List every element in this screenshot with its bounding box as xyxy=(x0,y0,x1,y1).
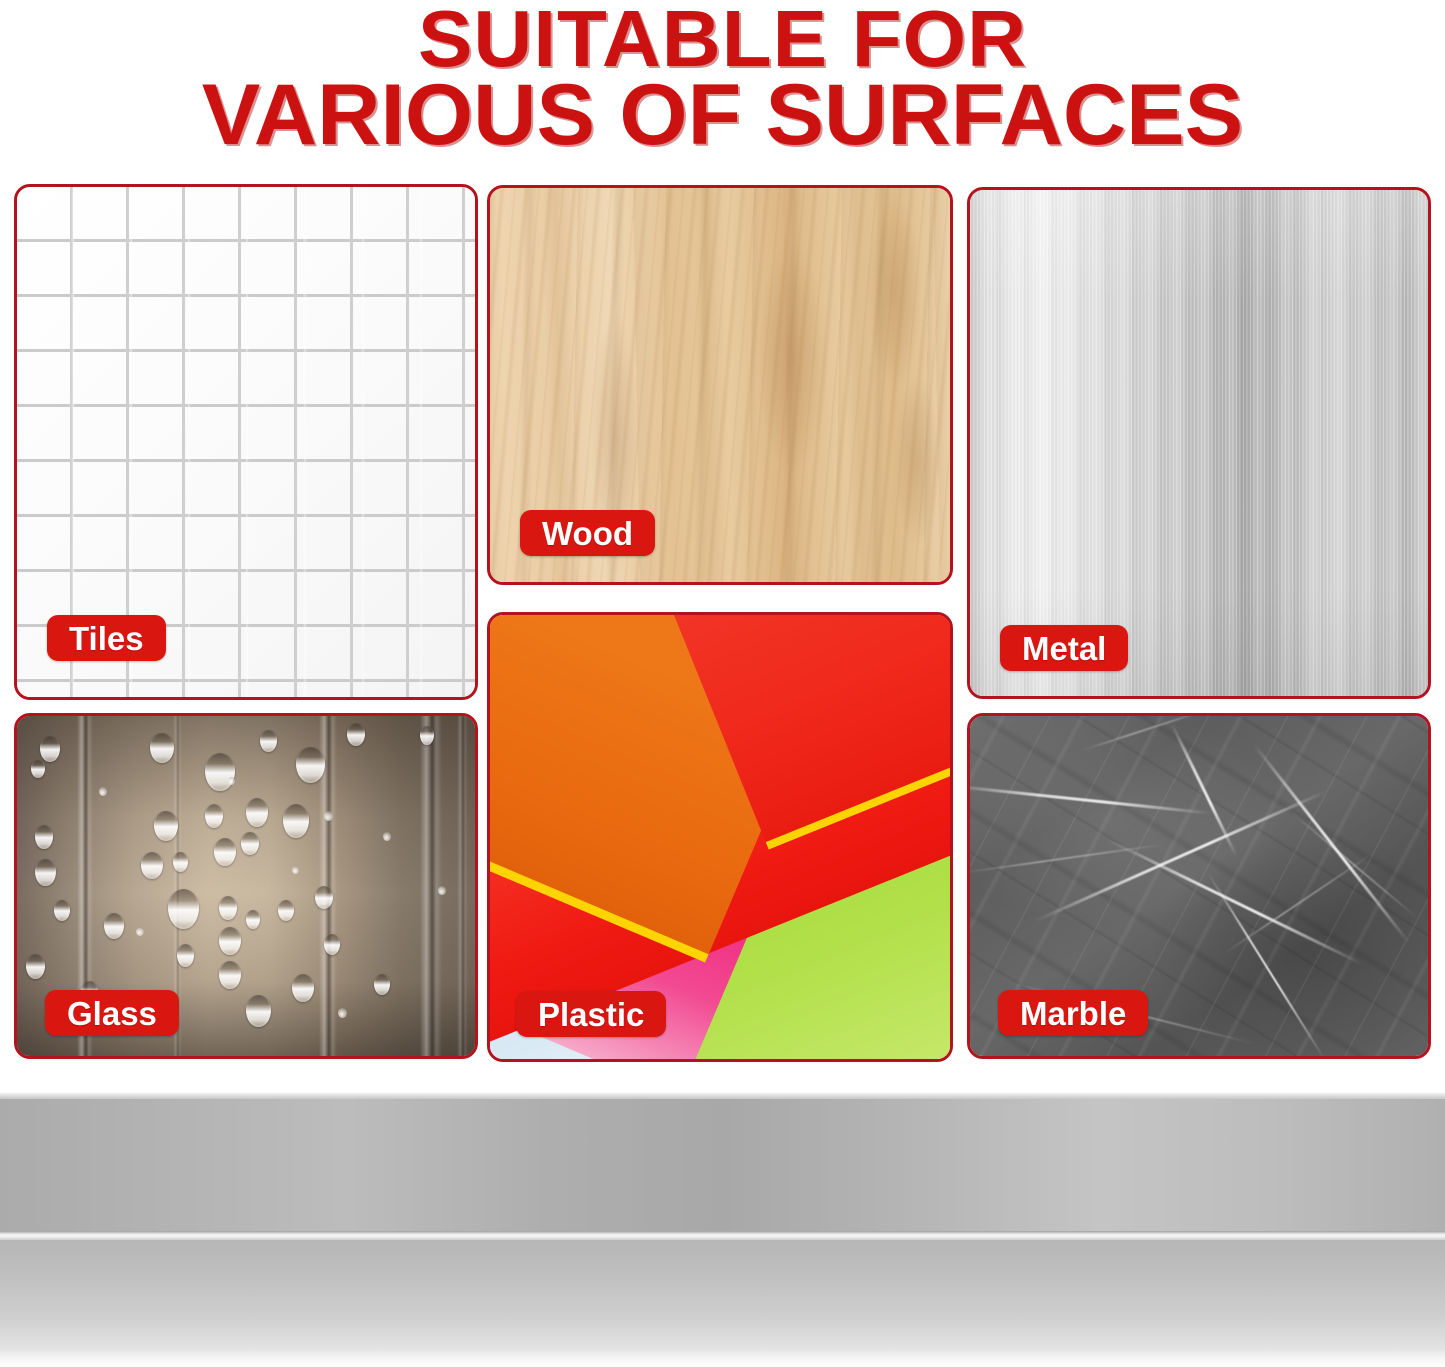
water-droplet xyxy=(177,944,194,967)
water-droplet xyxy=(31,760,45,778)
panel-badge-metal: Metal xyxy=(1000,625,1128,671)
water-droplet-small xyxy=(99,787,107,796)
water-droplet xyxy=(246,910,260,929)
water-droplet xyxy=(315,886,333,909)
wood-grain-knot xyxy=(867,196,922,386)
surface-panel-marble[interactable]: Marble xyxy=(967,713,1431,1059)
wood-grain-knot xyxy=(757,243,827,473)
water-droplet xyxy=(292,974,314,1002)
water-droplet xyxy=(374,974,390,995)
shelf-band-lower xyxy=(0,1240,1445,1366)
marble-vein xyxy=(1080,713,1211,752)
marble-vein xyxy=(1207,873,1325,1059)
water-droplet-small xyxy=(383,832,391,841)
panel-badge-glass: Glass xyxy=(45,990,179,1036)
water-droplet xyxy=(347,723,365,746)
water-droplet xyxy=(35,859,56,886)
water-droplet xyxy=(278,900,294,921)
panel-badge-marble: Marble xyxy=(998,990,1148,1036)
water-droplet xyxy=(283,804,309,838)
water-droplet xyxy=(219,896,237,920)
glass-streak xyxy=(457,713,468,1059)
shelf-divider-line xyxy=(0,1231,1445,1240)
water-droplet xyxy=(141,852,163,879)
surface-panel-metal[interactable]: Metal xyxy=(967,187,1431,699)
water-droplet xyxy=(54,900,70,921)
water-droplet xyxy=(219,927,241,955)
water-droplet xyxy=(35,825,53,849)
marble-vein xyxy=(967,844,1165,875)
surface-panel-glass[interactable]: Glass xyxy=(14,713,478,1059)
water-droplet xyxy=(205,804,223,828)
water-droplet xyxy=(241,832,259,855)
water-droplet-small xyxy=(228,777,235,785)
water-droplet xyxy=(104,913,124,939)
page-title-line-2: VARIOUS OF SURFACES xyxy=(0,76,1445,155)
marble-vein xyxy=(967,784,1211,815)
surface-panel-wood[interactable]: Wood xyxy=(487,185,953,585)
shelf-bottom-edge xyxy=(0,1351,1445,1367)
infographic-canvas: SUITABLE FOR VARIOUS OF SURFACES Tiles W… xyxy=(0,0,1445,1367)
product-shelf-strip xyxy=(0,1093,1445,1367)
water-droplet xyxy=(260,730,277,752)
water-droplet xyxy=(214,838,236,866)
water-droplet xyxy=(324,934,340,955)
water-droplet-small xyxy=(136,927,144,936)
panel-badge-plastic: Plastic xyxy=(516,991,666,1037)
wood-grain-knot xyxy=(895,377,939,547)
page-title-line-1: SUITABLE FOR xyxy=(0,2,1445,76)
marble-vein xyxy=(1290,811,1418,919)
water-droplet xyxy=(246,798,268,827)
water-droplet xyxy=(168,889,199,929)
water-droplet xyxy=(40,736,60,762)
water-droplet-small xyxy=(338,1008,347,1018)
water-droplet xyxy=(26,954,45,979)
water-droplet xyxy=(246,995,271,1027)
page-title: SUITABLE FOR VARIOUS OF SURFACES xyxy=(0,2,1445,155)
water-droplet-small xyxy=(324,811,333,821)
water-droplet xyxy=(219,961,241,989)
panel-badge-tiles: Tiles xyxy=(47,615,166,661)
surface-panel-tiles[interactable]: Tiles xyxy=(14,184,478,700)
water-droplet xyxy=(205,753,235,791)
metal-texture xyxy=(970,190,1428,696)
water-droplet xyxy=(173,852,188,872)
water-droplet xyxy=(150,733,174,763)
water-droplet-small xyxy=(292,866,299,874)
water-droplet-small xyxy=(438,886,446,895)
shelf-band-upper xyxy=(0,1099,1445,1231)
surface-panel-plastic[interactable]: Plastic xyxy=(487,612,953,1062)
panel-badge-wood: Wood xyxy=(520,510,655,556)
